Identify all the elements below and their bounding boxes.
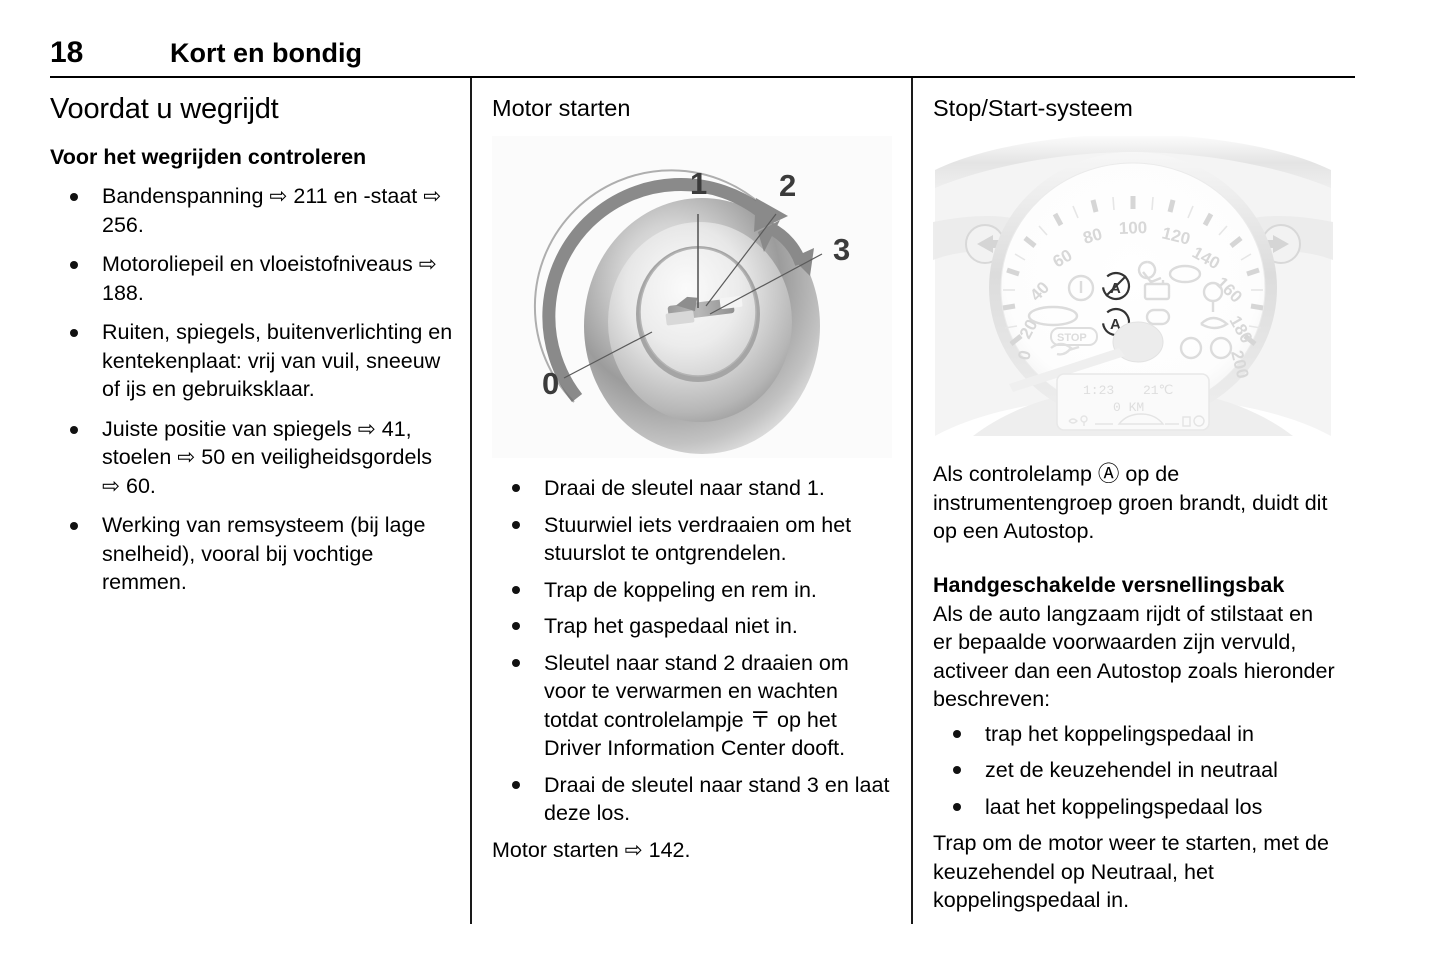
subsection-title-voor-het-wegrijden-controleren: Voor het wegrijden controleren: [50, 144, 454, 170]
engine-start-steps: Draai de sleutel naar stand 1. Stuurwiel…: [492, 474, 892, 828]
cross-reference-motor-starten: Motor starten ⇨ 142.: [492, 836, 892, 865]
column-divider-left: [470, 78, 472, 924]
svg-text:100: 100: [1118, 218, 1147, 238]
subsection-title-handgeschakelde-versnellingsbak: Handgeschakelde versnellingsbak: [933, 572, 1338, 598]
list-item: Trap het gaspedaal niet in.: [492, 612, 892, 641]
label-position-0: 0: [542, 366, 559, 401]
autostop-conditions-list: trap het koppelingspedaal in zet de keuz…: [933, 720, 1338, 822]
column-right: Stop/Start-systeem: [933, 92, 1338, 915]
checklist-before-driving: Bandenspanning ⇨ 211 en -staat ⇨ 256. Mo…: [50, 182, 454, 597]
content-columns: Voordat u wegrijdt Voor het wegrijden co…: [0, 92, 1445, 952]
column-middle: Motor starten: [492, 92, 892, 864]
list-item: Draai de sleutel naar stand 1.: [492, 474, 892, 503]
page-header: 18 Kort en bondig: [50, 36, 1355, 78]
autostop-intro-paragraph: Als controlelamp Ⓐ op de instrumentengro…: [933, 460, 1338, 546]
list-item: Ruiten, spiegels, buitenverlichting en k…: [50, 318, 454, 404]
list-item: Draai de sleutel naar stand 3 en laat de…: [492, 771, 892, 828]
section-title-motor-starten: Motor starten: [492, 94, 892, 122]
list-item: Motoroliepeil en vloeistofniveaus ⇨ 188.: [50, 250, 454, 307]
label-position-1: 1: [690, 166, 707, 201]
page-title: Kort en bondig: [170, 36, 362, 70]
instrument-cluster-illustration: 0 20 40 60 80 100 120 140 160 180 200: [933, 136, 1333, 446]
page-number: 18: [50, 36, 170, 70]
dic-time: 1:23: [1083, 383, 1114, 398]
driver-information-center: 1:23 21℃ 0 KM: [1057, 374, 1209, 430]
section-title-voordat-u-wegrijdt: Voordat u wegrijdt: [50, 92, 454, 126]
list-item: laat het koppelingspedaal los: [933, 793, 1338, 822]
ignition-switch-illustration: 1 2 3 0: [492, 136, 892, 458]
svg-text:STOP: STOP: [1057, 332, 1087, 344]
list-item: trap het koppelingspedaal in: [933, 720, 1338, 749]
list-item: Sleutel naar stand 2 draaien om voor te …: [492, 649, 892, 763]
instrument-cluster-figure: 0 20 40 60 80 100 120 140 160 180 200: [933, 136, 1333, 446]
label-position-2: 2: [779, 168, 796, 203]
list-item: Trap de koppeling en rem in.: [492, 576, 892, 605]
column-divider-right: [911, 78, 913, 924]
dic-temp: 21℃: [1143, 383, 1173, 398]
list-item: Werking van remsysteem (bij lage snelhei…: [50, 511, 454, 597]
manual-gearbox-paragraph: Als de auto langzaam rijdt of stilstaat …: [933, 600, 1338, 714]
label-position-3: 3: [833, 232, 850, 267]
section-title-stop-start-systeem: Stop/Start-systeem: [933, 94, 1338, 122]
list-item: zet de keuzehendel in neutraal: [933, 756, 1338, 785]
dic-odometer: 0 KM: [1113, 400, 1144, 415]
column-left: Voordat u wegrijdt Voor het wegrijden co…: [50, 92, 454, 608]
list-item: Juiste positie van spiegels ⇨ 41, stoele…: [50, 415, 454, 501]
list-item: Stuurwiel iets verdraaien om het stuursl…: [492, 511, 892, 568]
ignition-switch-figure: 1 2 3 0: [492, 136, 892, 458]
restart-paragraph: Trap om de motor weer te starten, met de…: [933, 829, 1338, 915]
list-item: Bandenspanning ⇨ 211 en -staat ⇨ 256.: [50, 182, 454, 239]
